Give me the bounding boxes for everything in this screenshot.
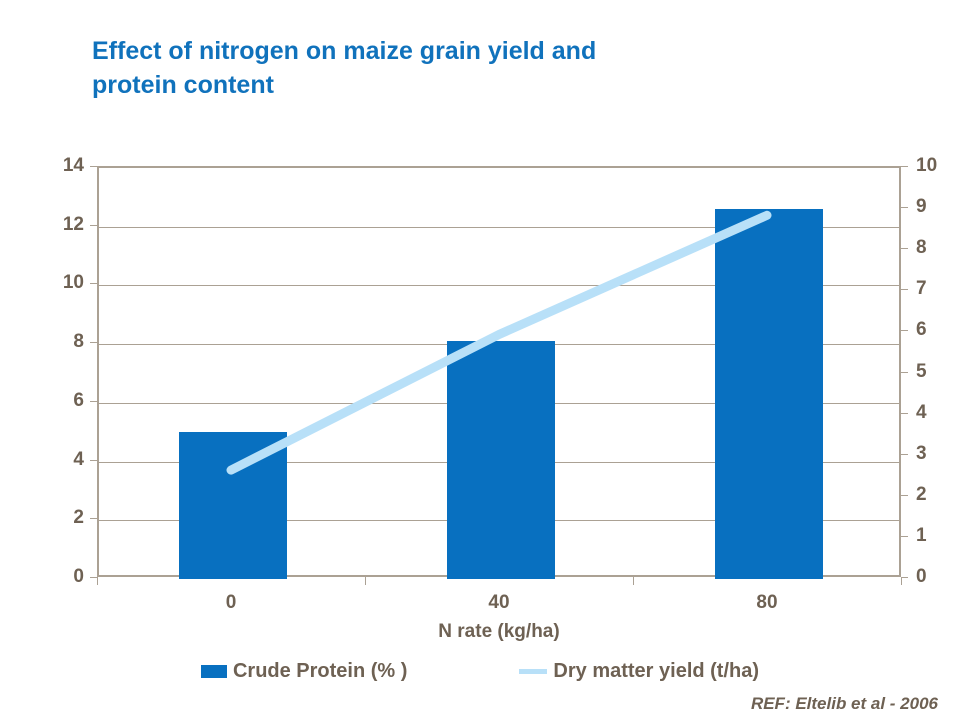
x-axis-tick-label: 40 xyxy=(488,593,509,612)
legend-label-dry-matter-yield: Dry matter yield (t/ha) xyxy=(553,660,759,682)
x-axis-title: N rate (kg/ha) xyxy=(97,621,901,643)
reference-note: REF: Eltelib et al - 2006 xyxy=(751,694,938,714)
legend-item-dry-matter-yield[interactable]: Dry matter yield (t/ha) xyxy=(519,660,759,682)
legend-swatch-bar-icon xyxy=(201,665,227,678)
x-axis-labels: 04080 xyxy=(0,0,960,720)
legend-item-crude-protein[interactable]: Crude Protein (% ) xyxy=(201,660,407,682)
legend-label-crude-protein: Crude Protein (% ) xyxy=(233,660,407,682)
chart-legend: Crude Protein (% ) Dry matter yield (t/h… xyxy=(0,660,960,682)
x-axis-tick-label: 0 xyxy=(226,593,237,612)
legend-swatch-line-icon xyxy=(519,669,547,674)
x-axis-tick-label: 80 xyxy=(756,593,777,612)
